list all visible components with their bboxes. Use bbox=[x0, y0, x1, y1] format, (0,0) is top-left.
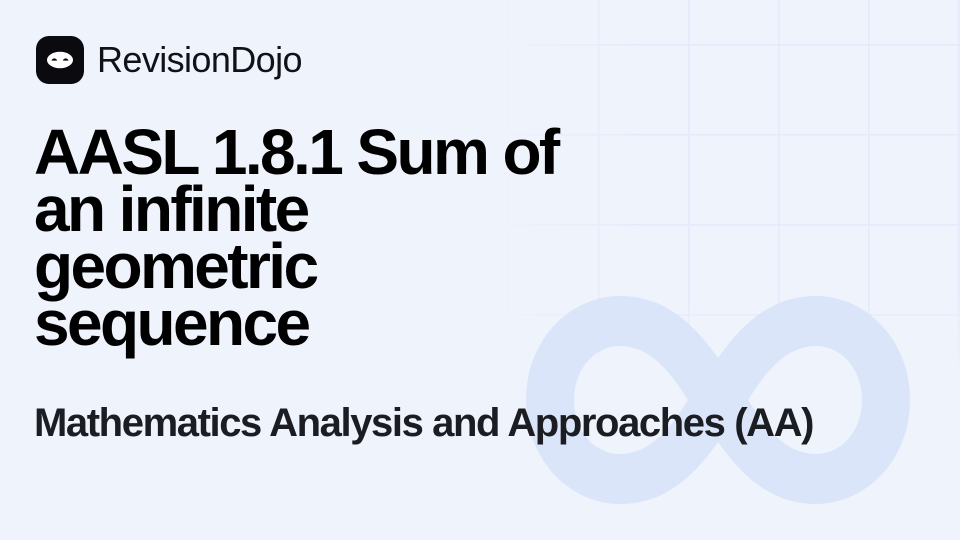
topic-title-card: RevisionDojo AASL 1.8.1 Sum of an infini… bbox=[0, 0, 960, 540]
brand-name: RevisionDojo bbox=[97, 42, 302, 78]
brand-lockup: RevisionDojo bbox=[36, 36, 302, 84]
ninja-mask-icon bbox=[36, 36, 84, 84]
subject-subtitle: Mathematics Analysis and Approaches (AA) bbox=[34, 404, 924, 443]
page-title: AASL 1.8.1 Sum of an infinite geometric … bbox=[34, 124, 594, 352]
headline-block: AASL 1.8.1 Sum of an infinite geometric … bbox=[34, 124, 594, 352]
card-content: RevisionDojo AASL 1.8.1 Sum of an infini… bbox=[0, 0, 960, 540]
